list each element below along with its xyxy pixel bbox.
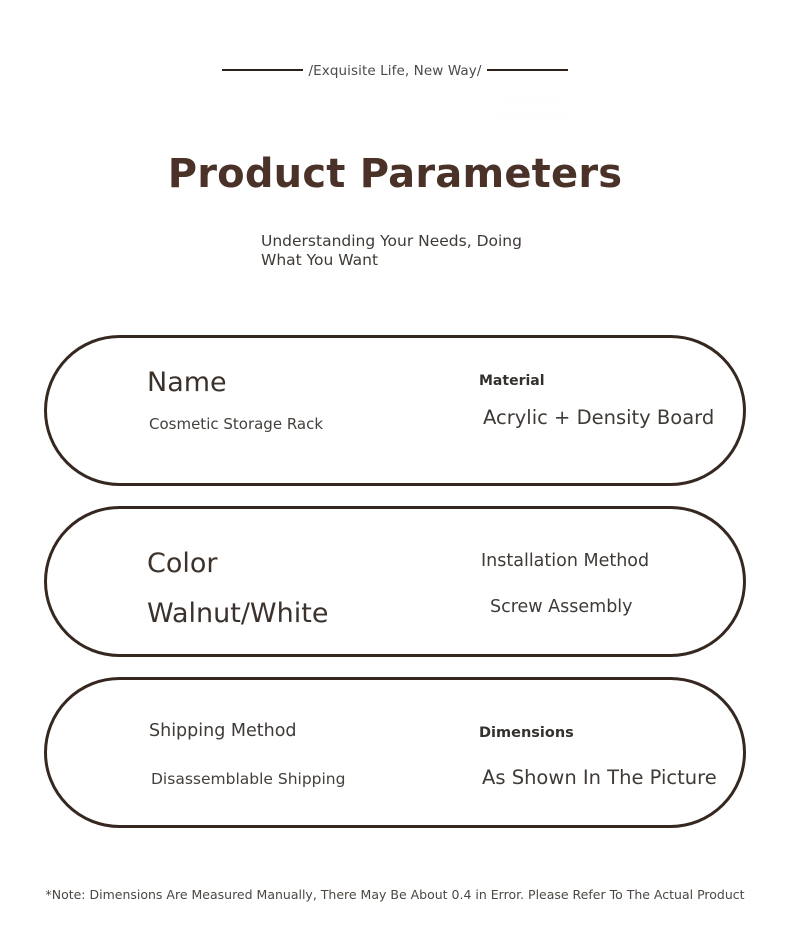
tagline-text: /Exquisite Life, New Way/ xyxy=(303,63,486,79)
spec-value: Screw Assembly xyxy=(490,596,649,619)
page-title: Product Parameters xyxy=(0,148,790,200)
spec-value: As Shown In The Picture xyxy=(482,765,717,791)
spec-label: Shipping Method xyxy=(149,720,345,743)
spec-list: Name Cosmetic Storage Rack Material Acry… xyxy=(0,335,790,828)
spec-label: Installation Method xyxy=(481,550,649,573)
tagline-banner: /Exquisite Life, New Way/ xyxy=(0,57,790,87)
spec-value: Disassemblable Shipping xyxy=(151,769,345,790)
tagline-text-row: /Exquisite Life, New Way/ xyxy=(0,57,790,85)
spec-value: Walnut/White xyxy=(147,596,328,632)
spec-row: Color Walnut/White Installation Method S… xyxy=(44,506,746,657)
spec-cell-right: Installation Method Screw Assembly xyxy=(481,550,649,619)
spec-value: Acrylic + Density Board xyxy=(483,405,714,431)
wood-arc-highlight xyxy=(490,91,574,135)
page-subtitle: Understanding Your Needs, Doing What You… xyxy=(261,232,529,270)
spec-row: Name Cosmetic Storage Rack Material Acry… xyxy=(44,335,746,486)
spec-cell-right: Dimensions As Shown In The Picture xyxy=(479,724,717,791)
spec-cell-left: Name Cosmetic Storage Rack xyxy=(147,366,323,434)
wood-arc-decoration-icon xyxy=(484,86,580,138)
spec-cell-left: Shipping Method Disassemblable Shipping xyxy=(149,720,345,790)
spec-label: Name xyxy=(147,366,323,400)
spec-value: Cosmetic Storage Rack xyxy=(149,414,323,434)
spec-label: Color xyxy=(147,546,328,582)
footer-note: *Note: Dimensions Are Measured Manually,… xyxy=(0,886,790,903)
spec-cell-left: Color Walnut/White xyxy=(147,546,328,632)
spec-row: Shipping Method Disassemblable Shipping … xyxy=(44,677,746,828)
spec-label: Material xyxy=(479,372,714,390)
spec-cell-right: Material Acrylic + Density Board xyxy=(479,372,714,431)
page-header: /Exquisite Life, New Way/ Product Parame… xyxy=(0,0,790,300)
spec-label: Dimensions xyxy=(479,724,717,743)
